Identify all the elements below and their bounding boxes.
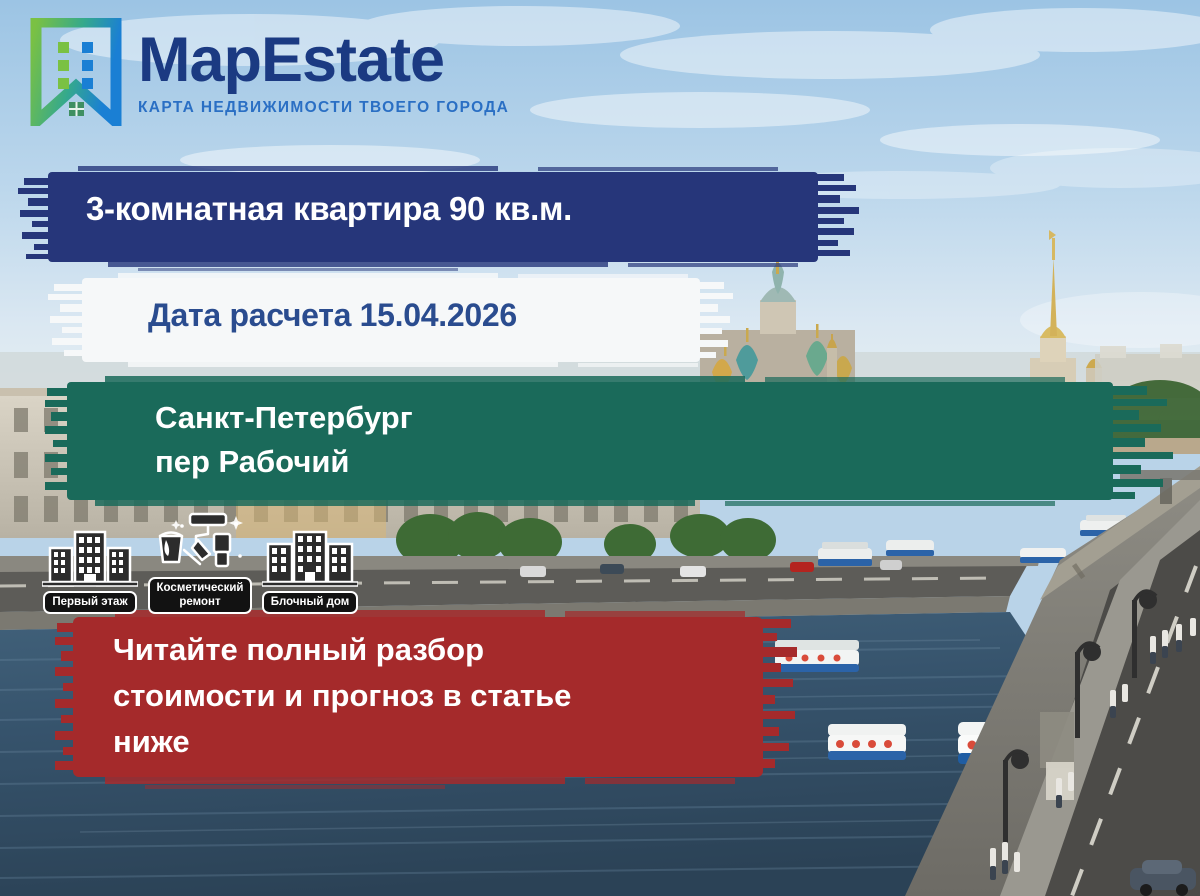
feature-badges: Первый этаж — [38, 512, 362, 614]
cta-line-3: ниже — [113, 719, 742, 765]
brand-tagline: КАРТА НЕДВИЖИМОСТИ ТВОЕГО ГОРОДА — [138, 100, 509, 116]
badge-first-floor[interactable]: Первый этаж — [38, 526, 142, 615]
cta-banner[interactable]: Читайте полный разбор стоимости и прогно… — [55, 605, 800, 790]
brand-logo[interactable]: MapEstate КАРТА НЕДВИЖИМОСТИ ТВОЕГО ГОРО… — [30, 18, 509, 126]
location-street: пер Рабочий — [155, 440, 1173, 484]
property-banner: 3-комнатная квартира 90 кв.м. — [18, 158, 863, 276]
map-bookmark-building-icon — [30, 18, 122, 126]
property-banner-text: 3-комнатная квартира 90 кв.м. — [18, 158, 863, 228]
date-banner-text: Дата расчета 15.04.2026 — [48, 268, 733, 334]
location-city: Санкт-Петербург — [155, 396, 1173, 440]
badge-block-house[interactable]: Блочный дом — [258, 526, 362, 615]
badge-label: Первый этаж — [43, 591, 136, 615]
location-banner: Санкт-Петербург пер Рабочий — [45, 372, 1173, 509]
apartment-block-icon — [262, 526, 358, 588]
office-building-icon — [42, 526, 138, 588]
cta-line-1: Читайте полный разбор — [113, 627, 742, 673]
location-banner-text: Санкт-Петербург пер Рабочий — [45, 372, 1173, 484]
badge-label: Блочный дом — [262, 591, 359, 615]
badge-cosmetic-renovation[interactable]: Косметический ремонт — [148, 512, 252, 614]
cta-banner-text: Читайте полный разбор стоимости и прогно… — [55, 605, 800, 765]
badge-label: Косметический ремонт — [148, 577, 253, 614]
brand-wordmark: MapEstate КАРТА НЕДВИЖИМОСТИ ТВОЕГО ГОРО… — [138, 29, 509, 116]
paint-roller-brush-bucket-icon — [152, 512, 248, 574]
brand-title: MapEstate — [138, 29, 509, 92]
poster-canvas: MapEstate КАРТА НЕДВИЖИМОСТИ ТВОЕГО ГОРО… — [0, 0, 1200, 896]
date-banner: Дата расчета 15.04.2026 — [48, 268, 733, 372]
cta-line-2: стоимости и прогноз в статье — [113, 673, 742, 719]
